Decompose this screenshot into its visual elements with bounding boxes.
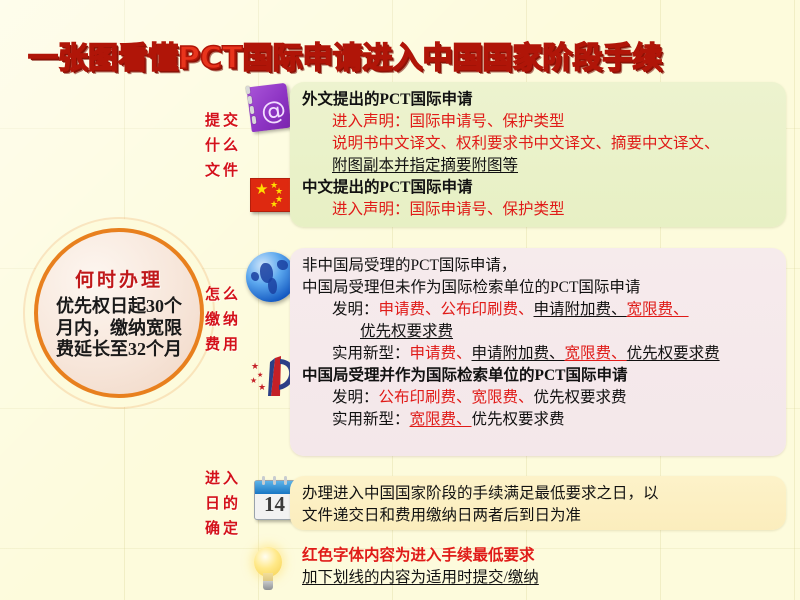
side-label-entry-date-l3: 确定 [192,516,254,541]
fees-invention-2: 发明：公布印刷费、宽限费、优先权要求费 [302,387,774,409]
fees-utility-2: 实用新型：宽限费、优先权要求费 [302,409,774,431]
badge-body: 优先权日起30个月内，缴纳宽限费延长至32个月 [49,296,189,362]
panel-entry-date: 办理进入中国国家阶段的手续满足最低要求之日，以 文件递交日和费用缴纳日两者后到日… [290,476,786,530]
fees-line1: 非中国局受理的PCT国际申请， [302,255,774,277]
docs-heading-chinese: 中文提出的PCT国际申请 [302,177,774,199]
legend-red-note: 红色字体内容为进入手续最低要求 [302,545,539,567]
docs-heading-foreign: 外文提出的PCT国际申请 [302,89,774,111]
when-to-file-badge: 何时办理 优先权日起30个月内，缴纳宽限费延长至32个月 [34,228,204,398]
docs-foreign-line1: 进入声明：国际申请号、保护类型 [302,111,774,133]
page-title: 一张图看懂PCT国际申请进入中国国家阶段手续 [28,33,662,77]
docs-chinese-line1: 进入声明：国际申请号、保护类型 [302,199,774,221]
svg-text:★: ★ [257,371,263,379]
side-label-documents-l3: 文件 [192,158,254,183]
panel-documents: 外文提出的PCT国际申请 进入声明：国际申请号、保护类型 说明书中文译文、权利要… [290,82,786,227]
side-label-fees-l1: 怎么 [192,282,254,307]
legend: 红色字体内容为进入手续最低要求 加下划线的内容为适用时提交/缴纳 [302,545,539,590]
docs-foreign-line2: 说明书中文译文、权利要求书中文译文、摘要中文译文、 [302,133,774,155]
docs-foreign-line3: 附图副本并指定摘要附图等 [302,155,774,177]
globe-icon [246,252,296,302]
side-label-entry-date-l2: 日的 [192,491,254,516]
entry-date-line1: 办理进入中国国家阶段的手续满足最低要求之日，以 [302,483,774,505]
fees-invention-1: 发明：申请费、公布印刷费、申请附加费、宽限费、 [302,299,774,321]
panel-fees: 非中国局受理的PCT国际申请， 中国局受理但未作为国际检索单位的PCT国际申请 … [290,248,786,456]
side-label-entry-date: 进入 日的 确定 [192,466,254,541]
fees-utility-1: 实用新型：申请费、申请附加费、宽限费、优先权要求费 [302,343,774,365]
legend-underline-note: 加下划线的内容为适用时提交/缴纳 [302,567,539,589]
side-label-fees: 怎么 缴纳 费用 [192,282,254,357]
svg-text:★: ★ [258,383,266,393]
side-label-fees-l2: 缴纳 [192,307,254,332]
svg-text:★: ★ [250,376,257,385]
entry-date-line2: 文件递交日和费用缴纳日两者后到日为准 [302,505,774,527]
lightbulb-icon [245,545,291,595]
fees-heading-isa: 中国局受理并作为国际检索单位的PCT国际申请 [302,365,774,387]
side-label-entry-date-l1: 进入 [192,466,254,491]
notebook-at-icon: @ [243,83,291,133]
badge-heading: 何时办理 [75,265,163,292]
fees-invention-1-cont: 优先权要求费 [302,321,774,343]
side-label-fees-l3: 费用 [192,332,254,357]
fees-line2: 中国局受理但未作为国际检索单位的PCT国际申请 [302,277,774,299]
side-label-documents-l2: 什么 [192,133,254,158]
